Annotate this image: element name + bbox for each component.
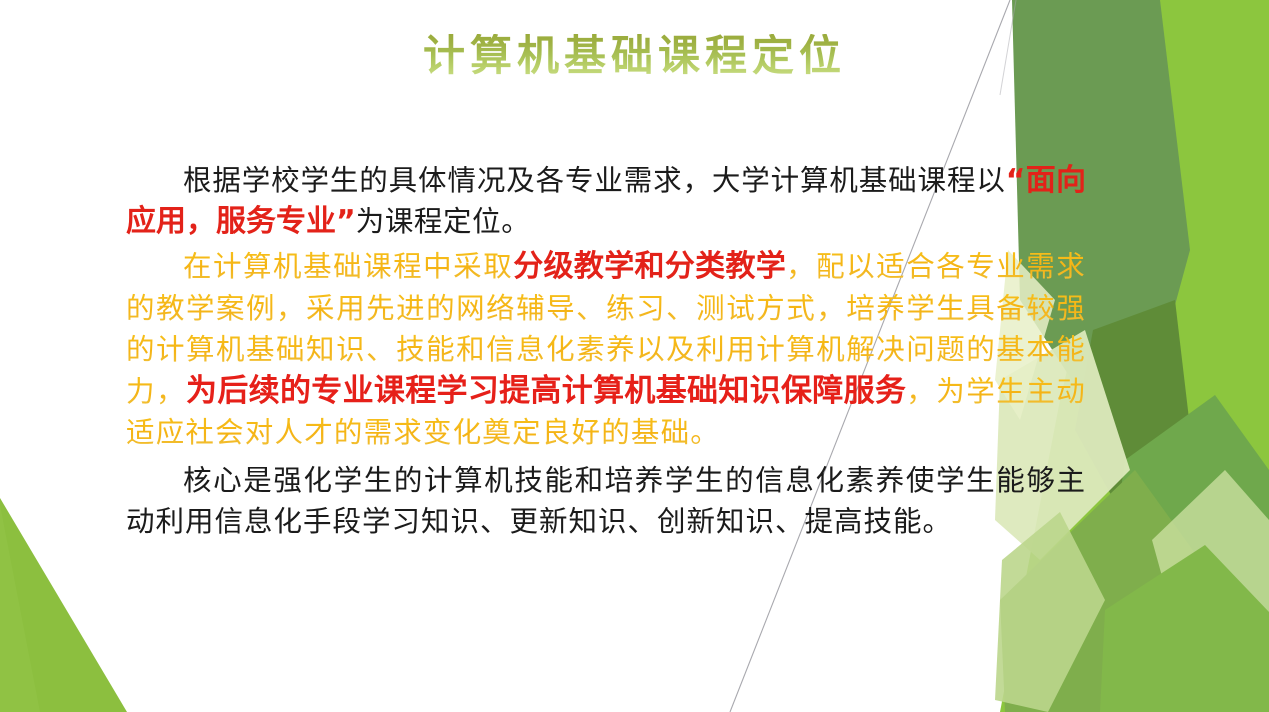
paragraph-2: 在计算机基础课程中采取分级教学和分类教学，配以适合各专业需求的教学案例，采用先进… <box>126 246 1086 454</box>
p2-emphasis-guarantee-service: 为后续的专业课程学习提高计算机基础知识保障服务 <box>186 373 906 409</box>
p2-run-1: 在计算机基础课程中采取 <box>183 250 513 283</box>
p2-emphasis-tiered-teaching: 分级教学和分类教学 <box>513 249 786 284</box>
page-title: 计算机基础课程定位 <box>0 34 1269 78</box>
p1-run-3: 为课程定位。 <box>356 205 531 238</box>
p1-run-1: 根据学校学生的具体情况及各专业需求，大学计算机基础课程以 <box>183 164 1006 197</box>
slide-content: 计算机基础课程定位 根据学校学生的具体情况及各专业需求，大学计算机基础课程以“面… <box>0 0 1269 712</box>
presentation-slide: 计算机基础课程定位 根据学校学生的具体情况及各专业需求，大学计算机基础课程以“面… <box>0 0 1269 712</box>
paragraph-3: 核心是强化学生的计算机技能和培养学生的信息化素养使学生能够主动利用信息化手段学习… <box>126 460 1086 542</box>
paragraph-1: 根据学校学生的具体情况及各专业需求，大学计算机基础课程以“面向应用，服务专业”为… <box>126 160 1086 242</box>
body-text-block: 根据学校学生的具体情况及各专业需求，大学计算机基础课程以“面向应用，服务专业”为… <box>126 160 1086 542</box>
p3-run-1: 核心是强化学生的计算机技能和培养学生的信息化素养使学生能够主动利用信息化手段学习… <box>126 464 1086 538</box>
